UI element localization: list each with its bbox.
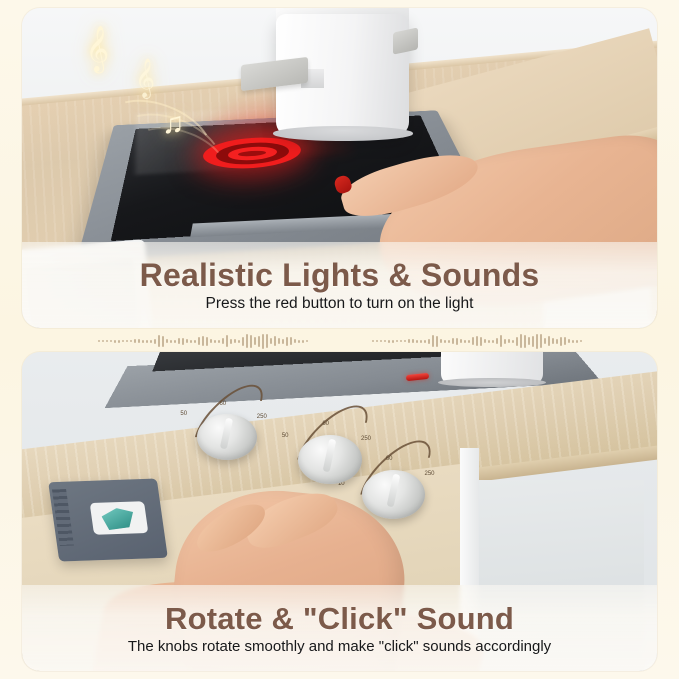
waveform-bar — [126, 340, 128, 342]
caption-subtitle: The knobs rotate smoothly and make "clic… — [128, 638, 551, 655]
waveform-bar — [400, 340, 402, 342]
waveform-bar — [170, 340, 172, 343]
waveform-bar — [214, 340, 216, 343]
waveform-bar — [448, 340, 450, 343]
waveform-bar — [524, 335, 526, 348]
product-feature-image: 𝄞 𝄞 ♫ Realistic Lights & Sounds Press th… — [0, 0, 679, 679]
waveform-bar — [412, 339, 414, 343]
waveform-bar — [238, 340, 240, 343]
waveform-bar — [166, 339, 168, 343]
waveform-bar — [568, 339, 570, 343]
waveform-bar — [178, 338, 180, 344]
waveform-bar — [532, 336, 534, 347]
waveform-bar — [210, 339, 212, 343]
waveform-bar — [492, 340, 494, 343]
waveform-bar — [150, 340, 152, 343]
waveform-bar — [262, 334, 264, 349]
waveform-bar — [146, 340, 148, 343]
feature-panel-rotate-click: 50 60 250 50 60 250 50 60 250 10 — [22, 352, 657, 671]
waveform-left — [98, 332, 308, 350]
waveform-bar — [234, 339, 236, 343]
waveform-bar — [294, 339, 296, 343]
waveform-bar — [424, 340, 426, 343]
waveform-bar — [528, 337, 530, 345]
waveform-bar — [114, 340, 116, 343]
waveform-bar — [118, 340, 120, 343]
waveform-right — [372, 332, 582, 350]
waveform-bar — [516, 337, 518, 346]
oven-knob-2[interactable] — [298, 435, 362, 484]
waveform-bar — [432, 335, 434, 347]
waveform-bar — [436, 336, 438, 347]
waveform-bar — [548, 336, 550, 346]
waveform-bar — [396, 340, 398, 342]
waveform-bar — [440, 339, 442, 343]
waveform-bar — [290, 337, 292, 345]
waveform-bar — [98, 340, 100, 342]
waveform-bar — [190, 340, 192, 343]
caption-title: Realistic Lights & Sounds — [140, 257, 540, 294]
waveform-bar — [138, 339, 140, 343]
waveform-bar — [270, 338, 272, 344]
waveform-bar — [380, 340, 382, 342]
waveform-bar — [282, 339, 284, 344]
waveform-bar — [444, 340, 446, 343]
waveform-bar — [246, 334, 248, 348]
waveform-bar — [392, 340, 394, 343]
waveform-bar — [512, 340, 514, 343]
feature-panel-lights-sounds: 𝄞 𝄞 ♫ Realistic Lights & Sounds Press th… — [22, 8, 657, 328]
waveform-bar — [472, 337, 474, 345]
waveform-bar — [102, 340, 104, 342]
waveform-bar — [520, 334, 522, 348]
waveform-bar — [142, 340, 144, 343]
waveform-bar — [250, 335, 252, 348]
waveform-bar — [372, 340, 374, 342]
waveform-bar — [460, 339, 462, 343]
waveform-bar — [476, 336, 478, 346]
waveform-bar — [428, 339, 430, 344]
waveform-bar — [222, 338, 224, 344]
waveform-bar — [388, 340, 390, 343]
waveform-bar — [508, 339, 510, 343]
waveform-bar — [206, 337, 208, 346]
waveform-bar — [162, 336, 164, 347]
waveform-bar — [464, 340, 466, 343]
waveform-bar — [452, 338, 454, 344]
waveform-bar — [298, 340, 300, 343]
waveform-bar — [154, 339, 156, 344]
waveform-bar — [226, 335, 228, 347]
caption-title: Rotate & "Click" Sound — [165, 601, 514, 637]
waveform-bar — [198, 337, 200, 345]
pot-base — [273, 126, 413, 140]
waveform-bar — [576, 340, 578, 343]
waveform-bar — [480, 337, 482, 346]
waveform-bar — [110, 340, 112, 342]
caption-subtitle: Press the red button to turn on the ligh… — [206, 295, 474, 313]
waveform-bar — [202, 336, 204, 346]
waveform-bar — [560, 337, 562, 346]
glowing-burner-icon — [202, 134, 302, 171]
waveform-bar — [258, 336, 260, 347]
waveform-bar — [500, 335, 502, 347]
waveform-bar — [456, 338, 458, 345]
waveform-bar — [552, 338, 554, 344]
waveform-bar — [496, 338, 498, 344]
waveform-bar — [194, 340, 196, 343]
waveform-bar — [218, 340, 220, 343]
waveform-bar — [580, 340, 582, 342]
waveform-bar — [174, 340, 176, 343]
caption-lights-sounds: Realistic Lights & Sounds Press the red … — [22, 242, 657, 328]
pot-base — [438, 378, 546, 388]
waveform-bar — [416, 340, 418, 343]
waveform-bar — [274, 336, 276, 346]
waveform-bar — [302, 340, 304, 343]
waveform-bar — [134, 339, 136, 343]
waveform-bar — [230, 339, 232, 344]
waveform-bar — [484, 339, 486, 343]
waveform-bar — [488, 340, 490, 343]
sound-waveform-divider — [22, 332, 657, 350]
waveform-bar — [540, 334, 542, 348]
waveform-bar — [468, 340, 470, 343]
waveform-bar — [286, 337, 288, 346]
waveform-bar — [158, 335, 160, 347]
waveform-bar — [278, 338, 280, 344]
waveform-bar — [556, 339, 558, 344]
waveform-bar — [306, 340, 308, 342]
waveform-bar — [266, 334, 268, 348]
waveform-bar — [182, 338, 184, 345]
waveform-bar — [504, 339, 506, 344]
waveform-bar — [404, 340, 406, 342]
caption-rotate-click: Rotate & "Click" Sound The knobs rotate … — [22, 585, 657, 671]
waveform-bar — [536, 334, 538, 349]
waveform-bar — [376, 340, 378, 342]
waveform-bar — [130, 340, 132, 342]
waveform-bar — [242, 337, 244, 346]
waveform-bar — [122, 340, 124, 342]
waveform-bar — [544, 338, 546, 344]
waveform-bar — [186, 339, 188, 343]
waveform-bar — [384, 340, 386, 342]
waveform-bar — [106, 340, 108, 342]
waveform-bar — [254, 337, 256, 345]
waveform-bar — [564, 337, 566, 345]
waveform-bar — [572, 340, 574, 343]
waveform-bar — [408, 339, 410, 343]
waveform-bar — [420, 340, 422, 343]
